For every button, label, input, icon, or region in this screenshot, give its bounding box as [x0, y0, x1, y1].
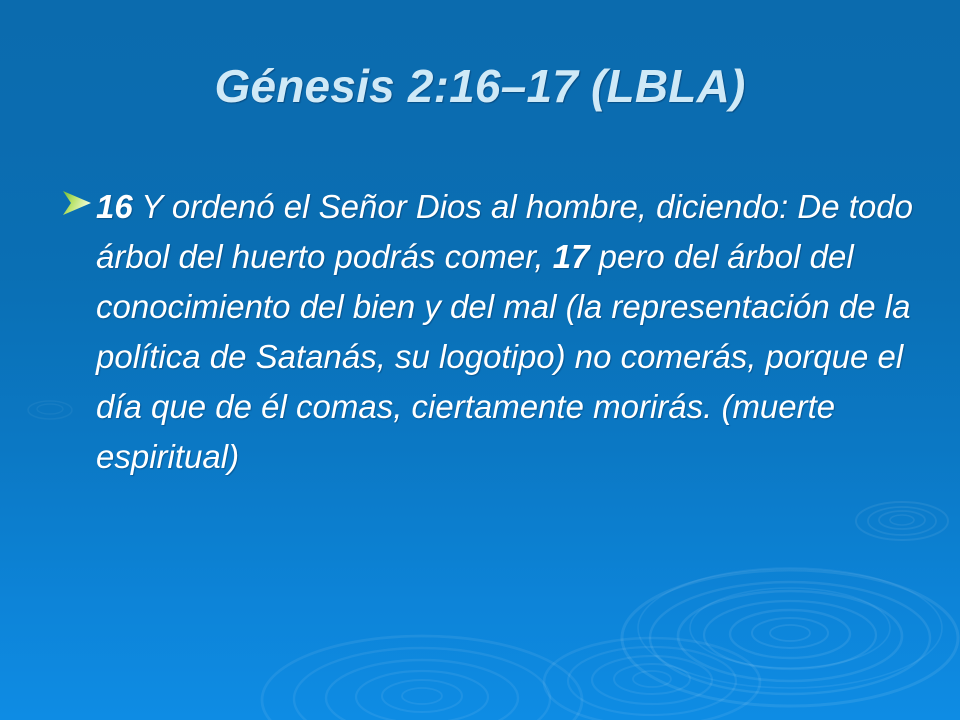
- verse-number-17: 17: [553, 238, 590, 275]
- verse-number-16: 16: [96, 188, 133, 225]
- ripple-small-right: [856, 502, 948, 540]
- slide-body: 16 Y ordenó el Señor Dios al hombre, dic…: [60, 182, 920, 482]
- slide-title: Génesis 2:16–17 (LBLA): [0, 58, 960, 114]
- ripple-large-highlight: [638, 568, 942, 688]
- verse-paragraph: 16 Y ordenó el Señor Dios al hombre, dic…: [96, 182, 920, 482]
- ripple-medium: [544, 638, 760, 720]
- ripple-left: [262, 636, 582, 720]
- arrowhead-bullet-icon: [62, 190, 92, 216]
- ripple-large: [622, 570, 958, 706]
- bullet-list-item: 16 Y ordenó el Señor Dios al hombre, dic…: [60, 182, 920, 482]
- presentation-slide: Génesis 2:16–17 (LBLA) 16 Y ordenó el Se…: [0, 0, 960, 720]
